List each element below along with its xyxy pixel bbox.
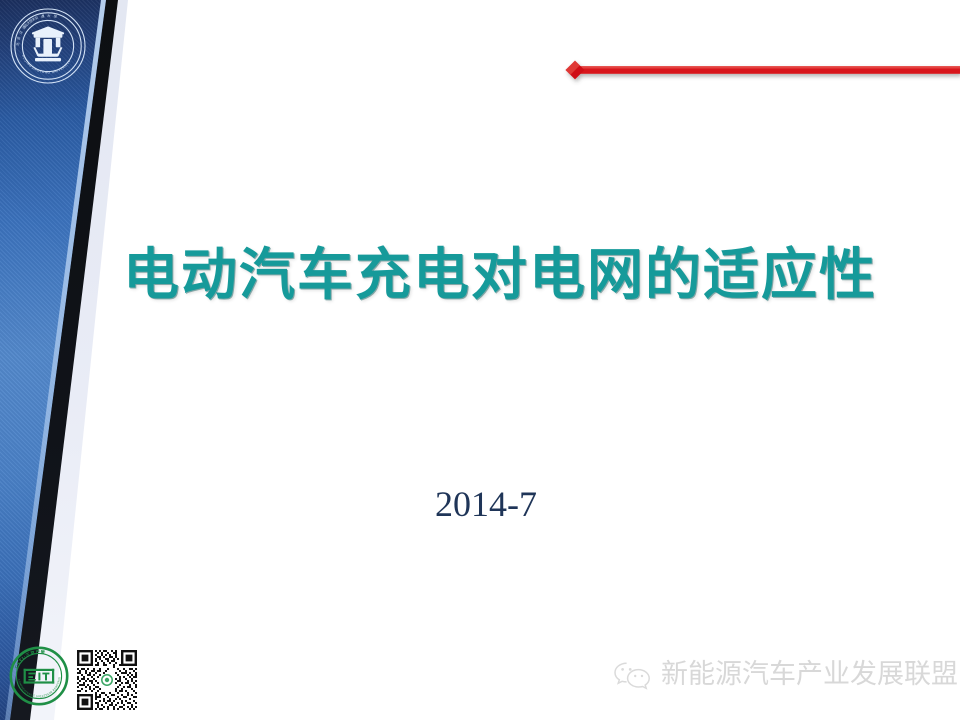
wechat-qr-code[interactable] [74,647,140,713]
wechat-watermark: 新能源汽车产业发展联盟 [612,658,958,692]
svg-text:BEIJING JIAOTONG UNIVERSITY: BEIJING JIAOTONG UNIVERSITY [21,54,72,74]
red-accent-rule [548,52,960,92]
wechat-icon [612,659,652,691]
watermark-text: 新能源汽车产业发展联盟 [661,658,958,692]
svg-text:CSTI·三京产盟: CSTI·三京产盟 [14,648,46,669]
slide-title: 电动汽车充电对电网的适应性 [0,240,960,312]
decorative-band-blue [0,0,260,720]
presentation-slide: 北 京 交 通 大 学 北 京 交 通 大 学 BEIJING JIAOTONG… [0,0,960,720]
decorative-band-black [0,0,260,720]
decorative-band-pale [0,0,260,720]
university-seal-icon: 北 京 交 通 大 学 北 京 交 通 大 学 BEIJING JIAOTONG… [8,6,88,86]
csti-green-seal-icon: CSTI·三京产盟 COMPREHENSIVE SUCCESSOR RESOUR… [9,646,69,706]
slide-date: 2014-7 [0,482,960,526]
decorative-band-edge-highlight [0,0,260,720]
